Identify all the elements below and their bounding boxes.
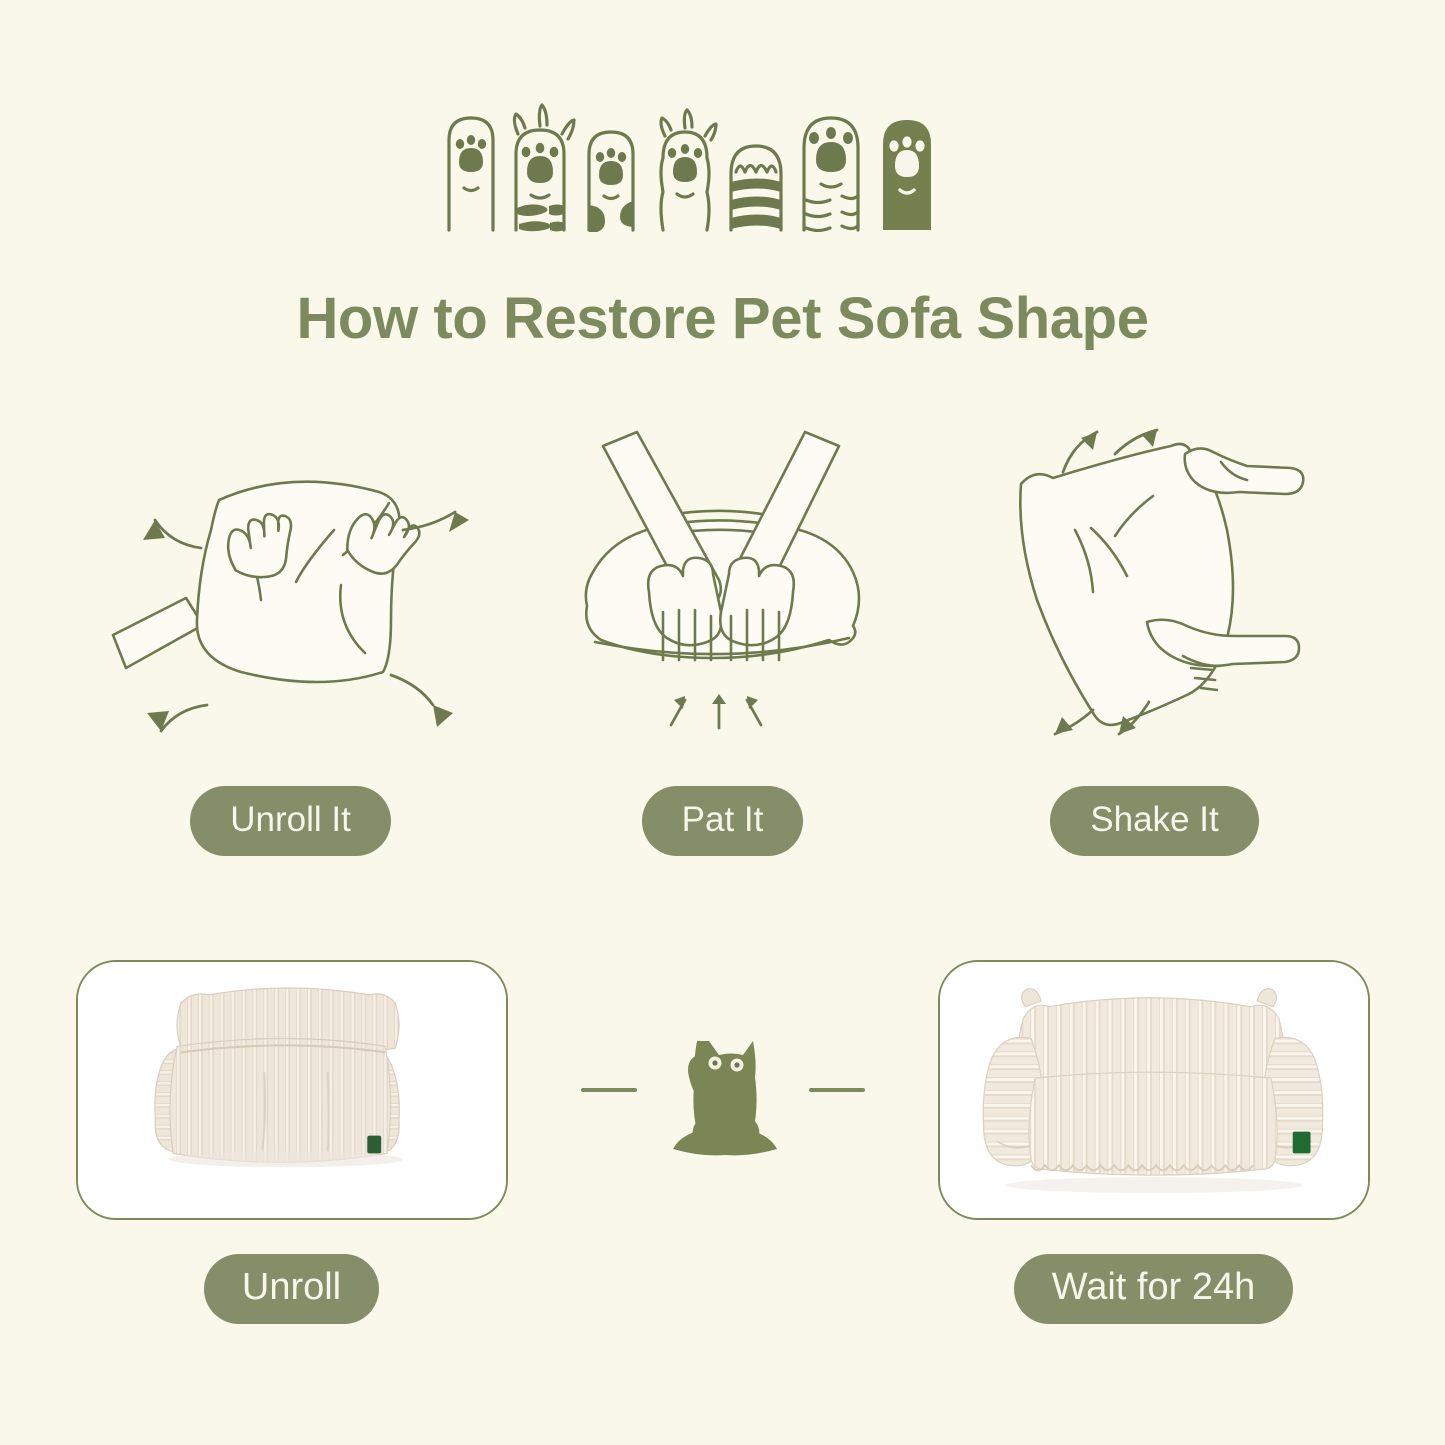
hands-unrolling-cushion-icon [91,420,491,740]
step-2-illustration [523,410,923,750]
step-unroll-it: Unroll It [75,410,507,856]
compressed-pet-bed-photo [76,960,508,1220]
step-1-label[interactable]: Unroll It [190,786,391,856]
hands-patting-cushion-icon [553,420,893,740]
result-connector [508,960,938,1220]
hands-shaking-cushion-icon [975,410,1335,750]
step-pat-it: Pat It [507,410,939,856]
result-before: Unroll [76,960,508,1324]
step-shake-it: Shake It [939,410,1371,856]
restored-sofa-illustration [940,960,1368,1220]
result-before-label[interactable]: Unroll [204,1254,379,1324]
result-after: Wait for 24h [938,960,1370,1324]
paw-banner [0,62,1445,232]
step-3-label[interactable]: Shake It [1050,786,1258,856]
result-row: Unroll [0,960,1445,1324]
cat-paws-row-icon [423,62,1023,232]
connector-dash-right [809,1088,865,1092]
sitting-cat-silhouette-icon [663,1015,783,1165]
result-after-label[interactable]: Wait for 24h [1014,1254,1293,1324]
page-root: How to Restore Pet Sofa Shape [0,0,1445,1445]
connector-dash-left [581,1088,637,1092]
step-2-label[interactable]: Pat It [642,786,804,856]
steps-row: Unroll It [0,410,1445,856]
compressed-bed-illustration [78,960,506,1220]
page-title: How to Restore Pet Sofa Shape [0,287,1445,351]
restored-pet-sofa-photo [938,960,1370,1220]
step-3-illustration [955,410,1355,750]
step-1-illustration [91,410,491,750]
